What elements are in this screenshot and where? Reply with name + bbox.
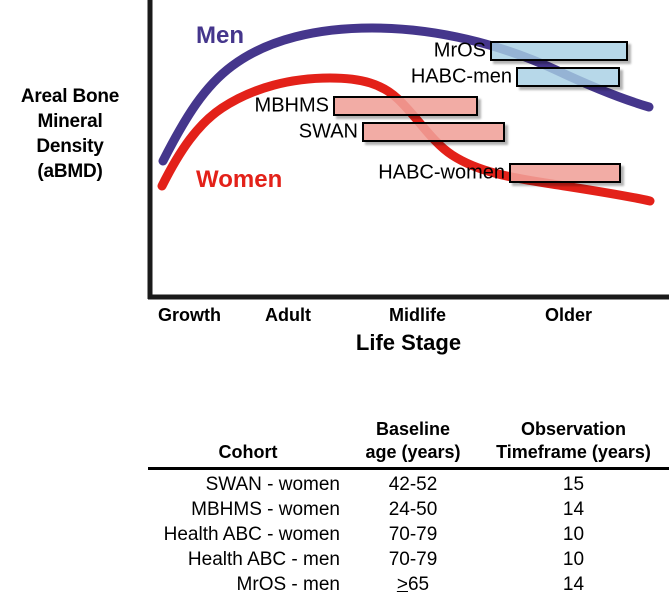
study-bar-mros: [490, 41, 628, 61]
study-label-habc-men: HABC-men: [411, 66, 512, 89]
col-header-cohort: Cohort: [148, 418, 348, 469]
cell-baseline-age: >65: [348, 572, 478, 597]
y-axis-title-line-4: (aBMD): [2, 159, 138, 184]
col-header-cohort-label: Cohort: [219, 442, 278, 462]
study-row-swan: SWAN: [362, 122, 505, 142]
x-axis-title: Life Stage: [148, 330, 669, 356]
women-curve-label: Women: [196, 166, 282, 194]
cell-cohort: SWAN - women: [148, 469, 348, 498]
study-row-mbhms: MBHMS: [333, 96, 478, 116]
table-row: SWAN - women 42-52 15: [148, 469, 669, 498]
col-header-observation: Observation Timeframe (years): [478, 418, 669, 469]
men-curve-label: Men: [196, 22, 244, 50]
cell-baseline-age: 42-52: [348, 469, 478, 498]
col-header-baseline-age: Baseline age (years): [348, 418, 478, 469]
figure-page: Areal Bone Mineral Density (aBMD) Life S…: [0, 0, 669, 597]
col-header-baseline-age-line1: Baseline: [376, 419, 450, 439]
study-row-habc-men: HABC-men: [516, 67, 620, 87]
cell-observation: 14: [478, 497, 669, 522]
table-row: MrOS - men >65 14: [148, 572, 669, 597]
cell-observation: 10: [478, 547, 669, 572]
table-row: MBHMS - women 24-50 14: [148, 497, 669, 522]
study-bar-swan: [362, 122, 505, 142]
x-tick-older: Older: [545, 305, 592, 326]
table-row: Health ABC - women 70-79 10: [148, 522, 669, 547]
cell-cohort: Health ABC - women: [148, 522, 348, 547]
abmd-life-stage-chart: Areal Bone Mineral Density (aBMD) Life S…: [0, 0, 669, 380]
cell-observation: 15: [478, 469, 669, 498]
cell-cohort: Health ABC - men: [148, 547, 348, 572]
x-tick-adult: Adult: [265, 305, 311, 326]
study-bar-habc-men: [516, 67, 620, 87]
study-label-habc-women: HABC-women: [378, 162, 505, 185]
y-axis-title-line-2: Mineral: [2, 109, 138, 134]
cell-observation: 14: [478, 572, 669, 597]
x-tick-growth: Growth: [158, 305, 221, 326]
cell-baseline-age: 24-50: [348, 497, 478, 522]
cell-observation: 10: [478, 522, 669, 547]
col-header-observation-line1: Observation: [521, 419, 626, 439]
col-header-baseline-age-line2: age (years): [365, 442, 460, 462]
y-axis-title-line-1: Areal Bone: [2, 84, 138, 109]
study-label-mbhms: MBHMS: [255, 95, 329, 118]
table-header-row: Cohort Baseline age (years) Observation …: [148, 418, 669, 469]
greater-equal-symbol: >: [397, 574, 408, 595]
cell-cohort: MrOS - men: [148, 572, 348, 597]
study-bar-habc-women: [509, 163, 621, 183]
y-axis-title: Areal Bone Mineral Density (aBMD): [2, 84, 138, 184]
cell-baseline-age-value: 65: [408, 574, 429, 595]
cohort-summary-table: Cohort Baseline age (years) Observation …: [148, 418, 669, 597]
study-row-mros: MrOS: [490, 41, 628, 61]
y-axis-title-line-3: Density: [2, 134, 138, 159]
cell-baseline-age: 70-79: [348, 547, 478, 572]
cell-baseline-age: 70-79: [348, 522, 478, 547]
study-label-mros: MrOS: [434, 40, 486, 63]
cell-cohort: MBHMS - women: [148, 497, 348, 522]
study-row-habc-women: HABC-women: [509, 163, 621, 183]
x-tick-midlife: Midlife: [389, 305, 446, 326]
col-header-observation-line2: Timeframe (years): [496, 442, 651, 462]
study-label-swan: SWAN: [299, 121, 358, 144]
table-row: Health ABC - men 70-79 10: [148, 547, 669, 572]
study-bar-mbhms: [333, 96, 478, 116]
